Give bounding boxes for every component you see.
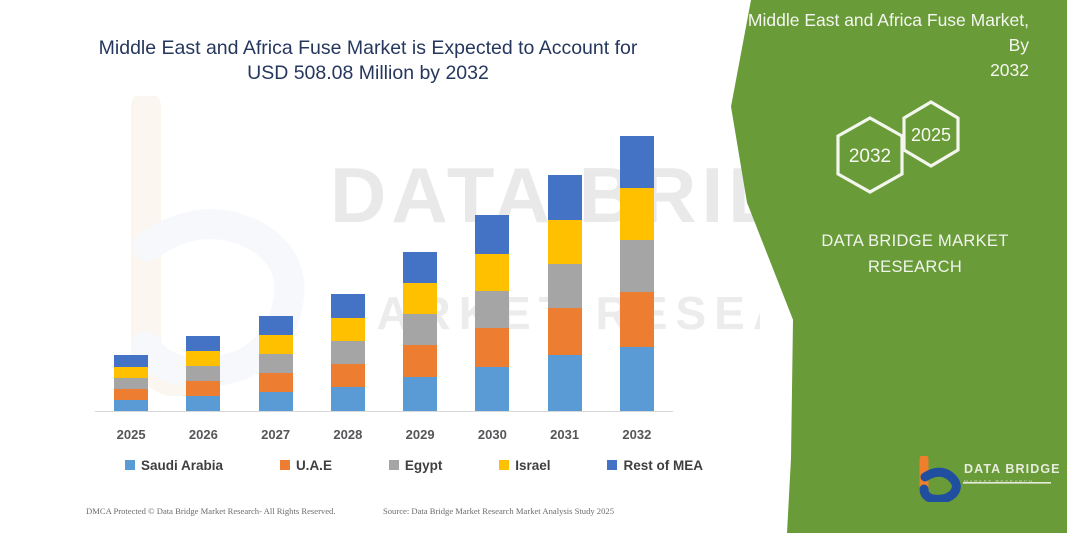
- axis-baseline: [95, 411, 673, 412]
- brand-line1: DATA BRIDGE MARKET: [790, 228, 1040, 254]
- bar-segment-2028-israel: [331, 318, 365, 341]
- hexagon-badges: 2032 2025: [826, 96, 986, 214]
- infographic-canvas: DATA BRIDGE MARKET RESEARCH Middle East …: [0, 0, 1067, 533]
- brand-line2: RESEARCH: [790, 254, 1040, 280]
- legend-label: Rest of MEA: [623, 458, 703, 473]
- bar-2031: [548, 175, 582, 411]
- bar-segment-2032-saudi-arabia: [620, 347, 654, 411]
- x-axis-label-2029: 2029: [403, 427, 437, 442]
- bar-segment-2026-saudi-arabia: [186, 396, 220, 411]
- legend-swatch-icon: [389, 460, 399, 470]
- bar-segment-2025-egypt: [114, 378, 148, 389]
- bar-segment-2030-rest-of-mea: [475, 215, 509, 254]
- bar-segment-2027-saudi-arabia: [259, 392, 293, 411]
- bar-2025: [114, 355, 148, 411]
- bar-segment-2029-saudi-arabia: [403, 377, 437, 411]
- bar-segment-2031-rest-of-mea: [548, 175, 582, 220]
- x-axis-label-2027: 2027: [259, 427, 293, 442]
- bar-segment-2029-egypt: [403, 314, 437, 345]
- bar-segment-2029-u-a-e: [403, 345, 437, 377]
- bar-2027: [259, 316, 293, 411]
- bar-segment-2030-israel: [475, 254, 509, 291]
- bar-segment-2032-u-a-e: [620, 292, 654, 347]
- panel-title-line1: Middle East and Africa Fuse Market, By: [729, 8, 1029, 58]
- bar-segment-2027-u-a-e: [259, 373, 293, 392]
- chart-title-line1: Middle East and Africa Fuse Market is Ex…: [58, 36, 678, 61]
- bar-segment-2029-rest-of-mea: [403, 252, 437, 283]
- brand-name: DATA BRIDGE MARKET RESEARCH: [790, 228, 1040, 280]
- footer: DMCA Protected © Data Bridge Market Rese…: [0, 506, 700, 526]
- bar-2030: [475, 215, 509, 411]
- legend-label: Egypt: [405, 458, 443, 473]
- bar-segment-2029-israel: [403, 283, 437, 314]
- bar-segment-2031-israel: [548, 220, 582, 264]
- bar-segment-2030-saudi-arabia: [475, 367, 509, 411]
- bar-segment-2026-egypt: [186, 366, 220, 381]
- panel-title: Middle East and Africa Fuse Market, By 2…: [729, 8, 1029, 83]
- legend-item-israel[interactable]: Israel: [499, 458, 550, 473]
- footer-copyright: DMCA Protected © Data Bridge Market Rese…: [86, 506, 336, 526]
- bar-segment-2027-rest-of-mea: [259, 316, 293, 335]
- bar-2029: [403, 252, 437, 411]
- legend-swatch-icon: [280, 460, 290, 470]
- bar-segment-2028-rest-of-mea: [331, 294, 365, 318]
- bar-2032: [620, 136, 654, 411]
- bar-segment-2026-rest-of-mea: [186, 336, 220, 351]
- bar-2028: [331, 294, 365, 411]
- bar-segment-2032-israel: [620, 188, 654, 240]
- bar-segment-2027-israel: [259, 335, 293, 354]
- legend-item-u-a-e[interactable]: U.A.E: [280, 458, 332, 473]
- bar-segment-2032-rest-of-mea: [620, 136, 654, 188]
- bar-segment-2032-egypt: [620, 240, 654, 292]
- panel-title-line2: 2032: [729, 58, 1029, 83]
- bar-2026: [186, 336, 220, 411]
- bar-segment-2027-egypt: [259, 354, 293, 373]
- bar-segment-2026-israel: [186, 351, 220, 366]
- x-axis-label-2028: 2028: [331, 427, 365, 442]
- x-axis-label-2025: 2025: [114, 427, 148, 442]
- legend-item-rest-of-mea[interactable]: Rest of MEA: [607, 458, 703, 473]
- bar-segment-2028-u-a-e: [331, 364, 365, 387]
- legend-swatch-icon: [499, 460, 509, 470]
- chart-title-line2: USD 508.08 Million by 2032: [58, 61, 678, 86]
- bar-segment-2028-saudi-arabia: [331, 387, 365, 411]
- legend-swatch-icon: [125, 460, 135, 470]
- bar-segment-2031-u-a-e: [548, 308, 582, 355]
- legend-label: Israel: [515, 458, 550, 473]
- bar-segment-2025-rest-of-mea: [114, 355, 148, 367]
- bar-segment-2031-egypt: [548, 264, 582, 308]
- stacked-bar-group: [95, 120, 673, 411]
- bar-segment-2026-u-a-e: [186, 381, 220, 396]
- x-axis-label-2032: 2032: [620, 427, 654, 442]
- chart-panel: DATA BRIDGE MARKET RESEARCH Middle East …: [0, 0, 760, 533]
- bar-segment-2025-u-a-e: [114, 389, 148, 400]
- legend-item-saudi-arabia[interactable]: Saudi Arabia: [125, 458, 223, 473]
- legend-label: Saudi Arabia: [141, 458, 223, 473]
- x-axis-labels: 20252026202720282029203020312032: [95, 423, 673, 445]
- bar-segment-2030-egypt: [475, 291, 509, 328]
- chart-legend: Saudi ArabiaU.A.EEgyptIsraelRest of MEA: [95, 454, 733, 476]
- page-title: Middle East and Africa Fuse Market is Ex…: [58, 36, 678, 86]
- x-axis-label-2030: 2030: [475, 427, 509, 442]
- bar-segment-2025-israel: [114, 367, 148, 378]
- x-axis-label-2031: 2031: [548, 427, 582, 442]
- hexagon-2025-label: 2025: [911, 125, 951, 145]
- legend-item-egypt[interactable]: Egypt: [389, 458, 443, 473]
- legend-swatch-icon: [607, 460, 617, 470]
- bar-segment-2028-egypt: [331, 341, 365, 364]
- x-axis-label-2026: 2026: [186, 427, 220, 442]
- bar-segment-2031-saudi-arabia: [548, 355, 582, 411]
- footer-source: Source: Data Bridge Market Research Mark…: [383, 506, 614, 526]
- bar-segment-2030-u-a-e: [475, 328, 509, 367]
- hexagon-2032-label: 2032: [849, 146, 891, 167]
- legend-label: U.A.E: [296, 458, 332, 473]
- logo-subtext: MARKET RESEARCH: [964, 479, 1034, 484]
- bar-segment-2025-saudi-arabia: [114, 400, 148, 411]
- logo-text: DATA BRIDGE: [964, 462, 1061, 476]
